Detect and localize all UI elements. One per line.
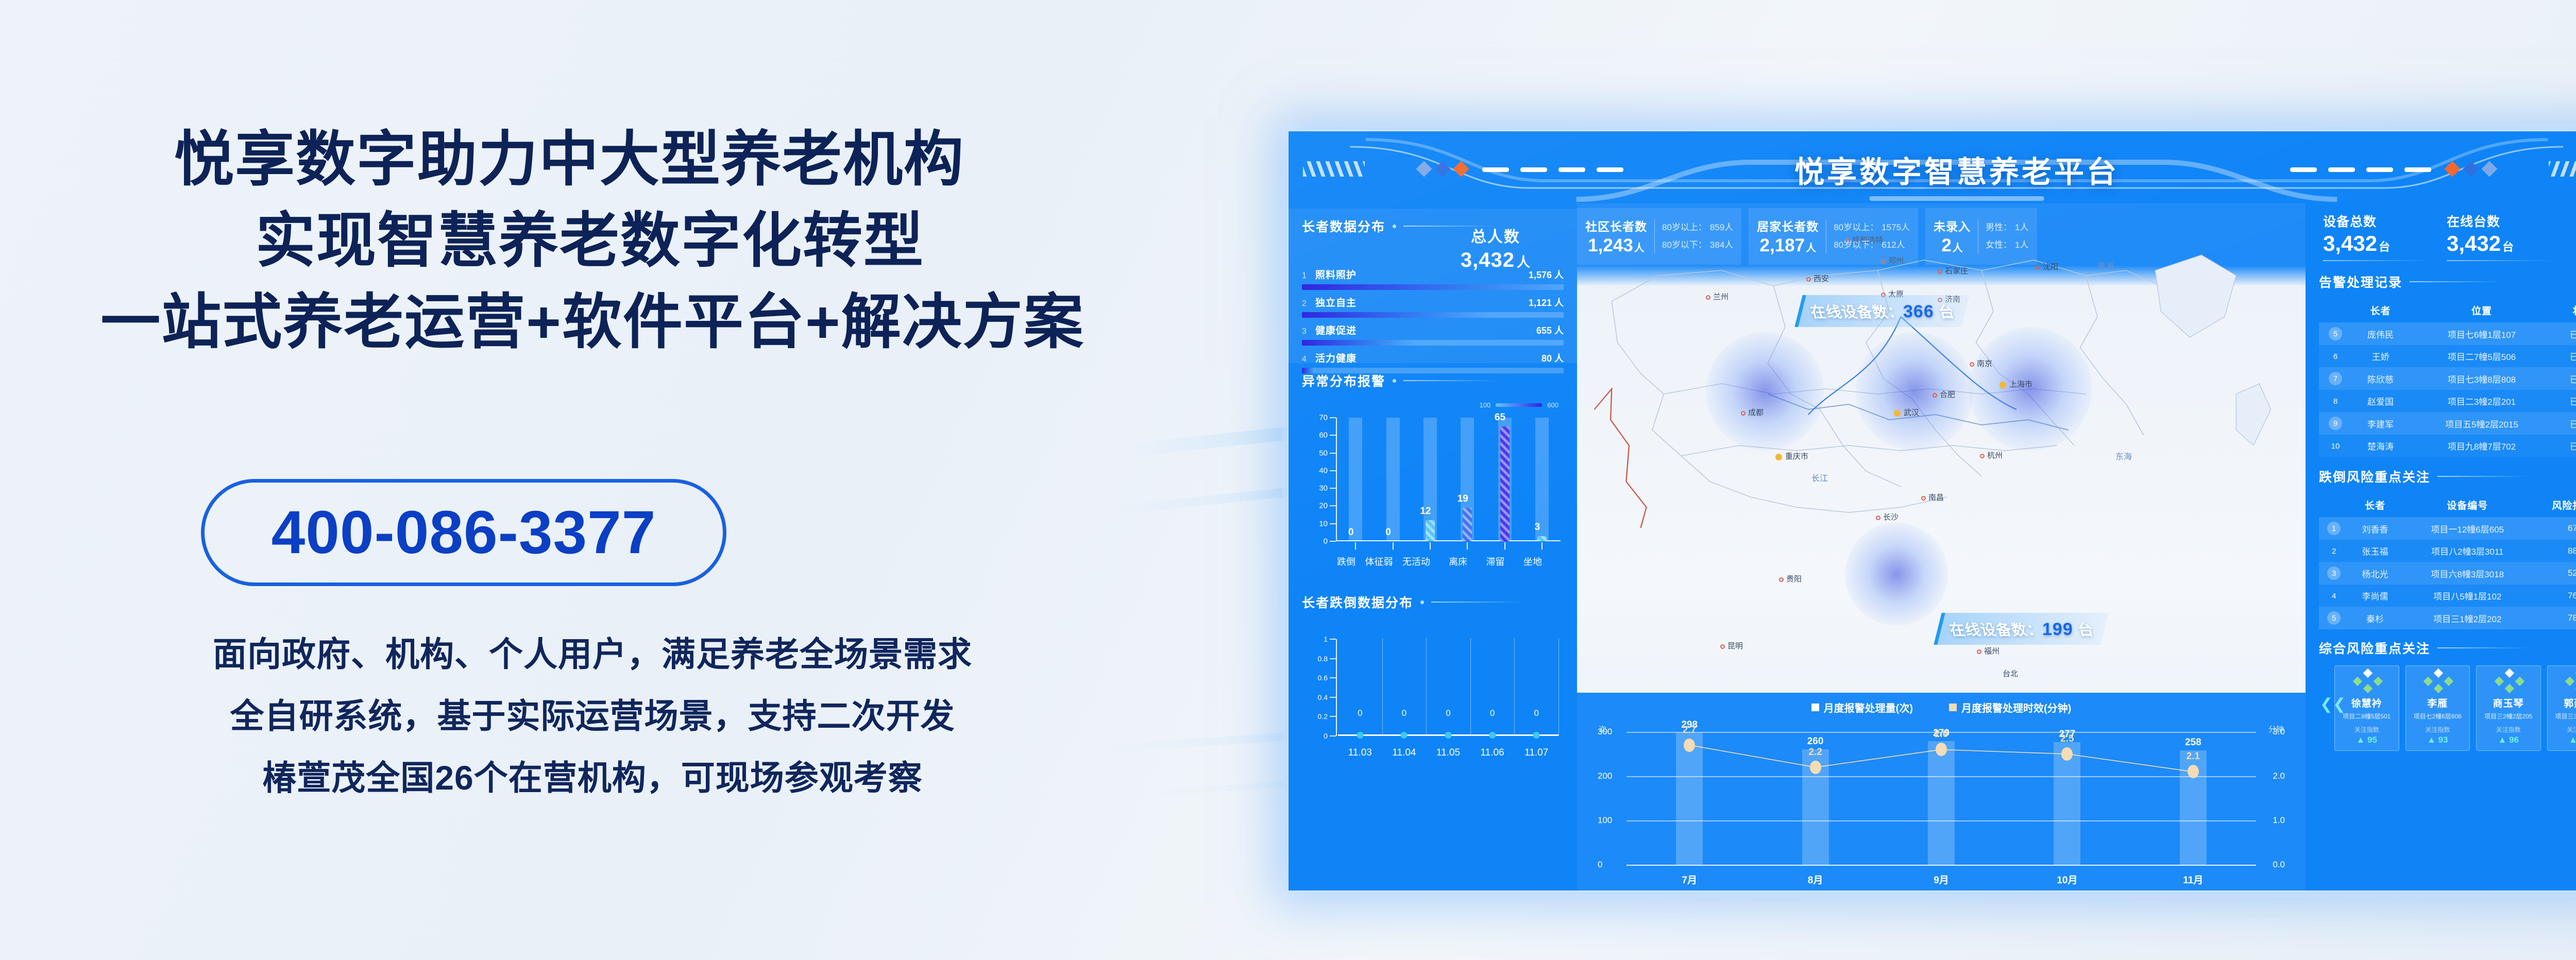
map-city-label: 武汉 <box>1894 407 1919 418</box>
alarm-log-row[interactable]: 10楚海涛项目九8幢7层702已处理 <box>2319 435 2576 457</box>
panel-alarm-log: 告警处理记录 长者位置状态 5庞伟民项目七6幢1层107已处理6王娇项目二7幢5… <box>2306 261 2576 457</box>
map-city-label: 贵阳 <box>1779 573 1802 584</box>
table-cell: 项目八2幢3层3011 <box>2401 540 2534 562</box>
bar-category-label: 离床 <box>1449 555 1467 568</box>
map-city-label: 台北 <box>2003 668 2018 679</box>
risk-card-location: 项目三3幢5层506 <box>2551 712 2576 721</box>
row-index: 8 <box>2333 397 2337 406</box>
alarm-log-row[interactable]: 9李建军项目五5幢2层2015已处理 <box>2319 412 2576 435</box>
panel-fall-risk: 跌倒风险重点关注 长者设备编号风险指数 1刘香香项目一12幢6层605672张玉… <box>2306 457 2576 629</box>
title-rule <box>2410 281 2502 282</box>
map-halo <box>1855 332 1974 451</box>
y-axis-tick: 0 <box>1324 732 1328 740</box>
x-axis-tick-mark <box>1504 542 1505 550</box>
table-cell: 项目一12幢6层605 <box>2401 517 2534 540</box>
alarm-log-row[interactable]: 5庞伟民项目七6幢1层107已处理 <box>2319 322 2576 345</box>
grid-line <box>1382 638 1383 736</box>
panel-title-fall-distribution: 长者跌倒数据分布 <box>1302 593 1564 611</box>
divider <box>1978 219 1978 253</box>
table-cell: 76 <box>2534 585 2576 607</box>
y-axis-tick: 0.8 <box>1318 655 1328 663</box>
table-cell: 项目二3幢2层201 <box>2409 390 2554 412</box>
title-rule <box>2437 647 2530 648</box>
y-axis-tick-mark <box>1330 697 1336 698</box>
table-cell: 已处理 <box>2554 367 2576 390</box>
table-cell: 庞伟民 <box>2352 322 2409 345</box>
bar-value: 65 <box>1495 412 1505 423</box>
device-stat-label: 在线台数 <box>2447 212 2555 230</box>
map-city-label: 福州 <box>1977 645 1999 656</box>
monthly-line-point <box>2061 747 2073 761</box>
risk-card-location: 项目七2幢6层606 <box>2409 712 2467 721</box>
risk-focus-card[interactable]: 商玉琴项目三2幢2层205关注指数▲ 96 <box>2476 665 2541 751</box>
map-city-label: 上海市 <box>1999 379 2032 389</box>
row-index: 3 <box>2327 567 2341 580</box>
table-cell: 刘香香 <box>2349 517 2401 540</box>
fall-plot-area: 011.03011.04011.05011.06011.07 <box>1338 638 1558 736</box>
left-axis-tick: 200 <box>1598 771 1612 781</box>
table-cell: 88 <box>2534 540 2576 562</box>
risk-card-index-value: ▲ 89 <box>2551 735 2576 745</box>
column-header: 长者 <box>2349 493 2401 517</box>
chevron-left-icon[interactable]: ❮❮ <box>2320 695 2346 713</box>
y-axis-tick: 10 <box>1319 519 1328 528</box>
device-stat-label: 设备总数 <box>2323 212 2431 230</box>
table-cell: 秦杉 <box>2349 607 2401 629</box>
y-axis-tick-mark <box>1330 505 1336 506</box>
table-cell: 已处理 <box>2554 435 2576 457</box>
map-city-label: 兰州 <box>1706 291 1728 302</box>
table-cell: 楚海涛 <box>2352 435 2409 457</box>
left-axis-tick: 100 <box>1598 815 1612 826</box>
elder-rank-row: 3健康促进655 人 <box>1302 323 1564 346</box>
line-data-point <box>1357 732 1363 739</box>
risk-card-name: 商玉琴 <box>2480 696 2537 710</box>
risk-card-name: 李雁 <box>2409 696 2467 710</box>
alarm-log-table: 长者位置状态 5庞伟民项目七6幢1层107已处理6王娇项目二7幢5层506已处理… <box>2319 298 2576 457</box>
bullet-dot-icon <box>1393 379 1396 383</box>
divider <box>1826 219 1826 253</box>
device-stat-unit: 台 <box>2502 241 2514 253</box>
risk-card-index-value: ▲ 96 <box>2480 735 2537 745</box>
monthly-line-value: 2.5 <box>2060 733 2074 745</box>
y-axis-tick-mark <box>1330 658 1336 659</box>
y-axis-tick: 40 <box>1319 466 1328 475</box>
risk-card-index-label: 关注指数 <box>2409 725 2467 734</box>
row-index: 6 <box>2333 352 2337 361</box>
elder-total-value: 3,432 <box>1461 249 1515 271</box>
row-index: 5 <box>2329 327 2342 340</box>
stat-breakdown: 80岁以上：1575人80岁以下：612人 <box>1834 219 1910 254</box>
x-axis-tick-mark <box>1430 542 1431 550</box>
abnormal-y-axis: 706050403020100 <box>1305 418 1336 541</box>
monthly-x-label: 11月 <box>2183 872 2203 886</box>
phone-cta-button[interactable]: 400-086-3377 <box>201 479 726 586</box>
device-stat-value: 3,432台 <box>2447 231 2555 256</box>
bar-value: 19 <box>1458 493 1468 505</box>
x-axis-label: 11.06 <box>1481 747 1504 759</box>
comprehensive-risk-card-list: ❮❮ 徐慧衿项目二8幢5层501关注指数▲ 95李雁项目七2幢6层606关注指数… <box>2319 665 2576 751</box>
device-stat-card: 设备总数3,432台 <box>2323 212 2431 261</box>
row-index: 2 <box>2332 547 2336 556</box>
table-cell: 78 <box>2534 607 2576 629</box>
stat-label: 未录入 <box>1934 217 1971 234</box>
x-axis-tick-mark <box>1393 542 1394 550</box>
risk-card-index-value: ▲ 93 <box>2409 735 2467 745</box>
panel-title-fall-risk: 跌倒风险重点关注 <box>2319 467 2576 486</box>
rank-label: 健康促进 <box>1315 323 1357 337</box>
bar-value: 0 <box>1348 527 1354 538</box>
map-city-label: 西安 <box>1806 273 1829 284</box>
table-cell: 项目二7幢5层506 <box>2409 345 2554 367</box>
bar-fill <box>1500 426 1510 541</box>
row-index: 1 <box>2327 522 2341 535</box>
dashboard-monitor: 悦享数字智慧养老平台 长者数据分布 总人数 3,432人 1照料照护1,576 … <box>1287 130 2576 892</box>
stat-card: 未录入2人男性：1人女性：1人 <box>1925 208 2037 265</box>
dashboard-center-column: 郑州 西安 南京 合肥 上海市 成都 武汉 重庆市 杭州 南昌 长沙 贵阳 福州… <box>1577 203 2306 892</box>
monthly-bar-value: 258 <box>2185 737 2201 748</box>
table-cell: 张玉福 <box>2349 540 2401 562</box>
rank-value: 1,121 人 <box>1529 296 1564 309</box>
x-axis-tick-mark <box>1355 542 1356 550</box>
stat-value: 2人 <box>1934 235 1971 256</box>
rank-bar-track <box>1302 284 1564 290</box>
rank-bar-fill <box>1302 284 1564 290</box>
monthly-plot-area: 3003.02002.01001.000.02982.77月2602.28月27… <box>1626 732 2256 865</box>
grid-line <box>1514 638 1515 736</box>
stat-sub-key: 80岁以下： <box>1662 240 1707 250</box>
legend-item-response: 月度报警处理时效(分钟) <box>1949 700 2071 715</box>
bullet-item-2: 全自研系统，基于实际运营场景，支持二次开发 <box>0 685 1185 747</box>
rank-index: 1 <box>1302 271 1315 281</box>
x-axis-label: 11.03 <box>1348 747 1372 759</box>
monthly-bar <box>1676 733 1703 865</box>
map-city-label: 合肥 <box>1933 389 1955 400</box>
elder-rank-row: 2独立自主1,121 人 <box>1302 295 1564 318</box>
rank-bar-track <box>1302 312 1564 318</box>
column-header: 位置 <box>2409 298 2554 322</box>
rank-index: 2 <box>1302 299 1315 308</box>
column-header <box>2319 298 2352 322</box>
y-axis-tick-mark <box>1330 541 1336 542</box>
risk-card-index-label: 关注指数 <box>2480 725 2537 734</box>
panel-title-abnormal-alerts: 异常分布报警 <box>1302 371 1564 390</box>
panel-title-comprehensive-risk: 综合风险重点关注 <box>2319 639 2576 657</box>
stat-sub-key: 80岁以上： <box>1834 222 1878 232</box>
stat-sub-value: 612人 <box>1882 240 1905 250</box>
stat-card: 社区长者数1,243人80岁以上：859人80岁以下：384人 <box>1577 208 1741 265</box>
monthly-line-point <box>2188 765 2199 778</box>
risk-focus-card[interactable]: 李雁项目七2幢6层606关注指数▲ 93 <box>2405 665 2470 751</box>
stat-label: 社区长者数 <box>1585 217 1647 234</box>
monthly-x-label: 7月 <box>1682 872 1697 886</box>
bar-track <box>1349 418 1362 541</box>
column-header: 风险指数 <box>2534 493 2576 517</box>
x-axis-label: 11.05 <box>1436 747 1460 759</box>
bullet-list: 面向政府、机构、个人用户，满足养老全场景需求 全自研系统，基于实际运营场景，支持… <box>0 623 1185 809</box>
diamond-cluster-icon <box>2480 672 2537 693</box>
rank-index: 3 <box>1302 327 1315 336</box>
bar-value: 3 <box>1535 522 1540 533</box>
alarm-log-row[interactable]: 6王娇项目二7幢5层506已处理 <box>2319 345 2576 367</box>
map-callout-devices-1: 在线设备数：366 台 <box>1794 295 1969 327</box>
table-cell: 已处理 <box>2554 322 2576 345</box>
bar-category-label: 无活动 <box>1402 555 1430 568</box>
y-axis-tick: 0.4 <box>1318 693 1328 701</box>
fall-risk-row[interactable]: 2张玉福项目八2幢3层301188 <box>2319 540 2576 562</box>
rank-bar-fill <box>1302 312 1488 318</box>
map-city-label: 长沙 <box>1876 511 1899 522</box>
column-header <box>2319 493 2349 517</box>
y-axis-tick-mark <box>1330 417 1336 418</box>
bar-fill <box>1463 508 1472 541</box>
fall-risk-row[interactable]: 3杨北光项目六8幢3层301852 <box>2319 562 2576 585</box>
table-cell: 项目七6幢1层107 <box>2409 322 2554 345</box>
dashboard-left-column: 长者数据分布 总人数 3,432人 1照料照护1,576 人2独立自主1,121… <box>1289 203 1577 892</box>
stat-breakdown: 80岁以上：859人80岁以下：384人 <box>1662 219 1733 254</box>
stat-breakdown: 男性：1人女性：1人 <box>1986 219 2028 254</box>
row-index: 7 <box>2329 372 2342 385</box>
legend-item-volume: 月度报警处理量(次) <box>1811 700 1913 715</box>
line-data-point <box>1445 732 1452 739</box>
table-cell: 赵爱国 <box>2352 390 2409 412</box>
x-axis-label: 11.04 <box>1392 747 1416 759</box>
line-data-point <box>1401 732 1408 739</box>
column-header: 状态 <box>2554 298 2576 322</box>
right-axis-tick: 3.0 <box>2273 727 2285 737</box>
y-axis-tick: 0 <box>1324 537 1328 546</box>
monthly-alarm-chart: 月度报警处理量(次) 月度报警处理时效(分钟) 次 分钟 3003.02002.… <box>1577 693 2306 892</box>
map-sea-label: 东海 <box>2115 450 2132 462</box>
map-river-label: 长江 <box>1811 471 1828 484</box>
monthly-line-value: 2.1 <box>2187 751 2200 762</box>
table-cell: 67 <box>2534 517 2576 540</box>
table-cell: 陈欣慈 <box>2352 367 2409 390</box>
row-index: 5 <box>2327 611 2341 625</box>
bar-category-label: 体征弱 <box>1365 555 1393 568</box>
map-callout-devices-2: 在线设备数：199 台 <box>1934 613 2108 645</box>
row-index: 4 <box>2332 592 2336 601</box>
right-axis-tick: 1.0 <box>2273 815 2285 826</box>
line-data-value: 0 <box>1446 708 1450 718</box>
title-rule <box>1403 380 1496 381</box>
bar-category-label: 滞留 <box>1486 555 1505 568</box>
headline-line-3: 一站式养老运营+软件平台+解决方案 <box>0 281 1185 363</box>
bar-category-label: 坐地 <box>1523 555 1542 568</box>
grid-line <box>1426 638 1427 736</box>
left-axis-tick: 0 <box>1598 860 1602 870</box>
stat-sub-key: 80岁以上： <box>1662 222 1707 232</box>
y-axis-tick-mark <box>1330 435 1336 436</box>
x-axis-label: 11.07 <box>1524 747 1548 759</box>
column-header: 长者 <box>2352 298 2409 322</box>
fall-risk-row[interactable]: 1刘香香项目一12幢6层60567 <box>2319 517 2576 540</box>
dashboard-title: 悦享数字智慧养老平台 <box>1289 148 2576 191</box>
rank-value: 1,576 人 <box>1529 268 1564 281</box>
map-city-label: 杭州 <box>1980 450 2003 460</box>
table-header-row: 长者位置状态 <box>2319 298 2576 322</box>
legend-gradient-bar <box>1496 403 1542 407</box>
table-cell: 已处理 <box>2554 345 2576 367</box>
device-stats-row: 设备总数3,432台在线台数3,432台 <box>2306 203 2576 261</box>
table-cell: 杨北光 <box>2349 562 2401 585</box>
right-axis-tick: 0.0 <box>2273 860 2285 870</box>
line-data-value: 0 <box>1402 708 1406 718</box>
bullet-item-3: 椿萱茂全国26个在营机构，可现场参观考察 <box>0 747 1185 809</box>
alarm-log-row[interactable]: 7陈欣慈项目七3幢8层808已处理 <box>2319 367 2576 390</box>
device-stat-card: 在线台数3,432台 <box>2447 212 2555 261</box>
map-city-label: 南昌 <box>1921 492 1944 503</box>
monthly-x-label: 8月 <box>1808 872 1823 886</box>
dashboard-header: 悦享数字智慧养老平台 <box>1289 131 2576 203</box>
top-stats-row: 社区长者数1,243人80岁以上：859人80岁以下：384人居家长者数2,18… <box>1577 203 2306 269</box>
y-axis-tick: 30 <box>1319 484 1328 493</box>
table-cell: 李尚儒 <box>2349 585 2401 607</box>
map-city-label: 昆明 <box>1720 640 1743 651</box>
row-index: 10 <box>2331 442 2340 451</box>
alarm-log-row[interactable]: 8赵爱国项目二3幢2层201已处理 <box>2319 390 2576 412</box>
left-axis-tick: 300 <box>1598 727 1612 737</box>
risk-card-name: 徐慧衿 <box>2338 696 2396 710</box>
risk-focus-card[interactable]: 郭建国项目三3幢5层506关注指数▲ 89 <box>2547 665 2576 751</box>
stat-unit: 人 <box>1806 243 1816 254</box>
dashboard-right-column: 设备总数3,432台在线台数3,432台 告警处理记录 长者位置状态 5庞伟民项… <box>2306 203 2576 892</box>
map-city-label: 重庆市 <box>1775 451 1808 461</box>
headline-line-2: 实现智慧养老数字化转型 <box>0 200 1185 281</box>
title-rule <box>1431 602 1524 603</box>
device-stat-value: 3,432台 <box>2323 231 2431 256</box>
map-halo <box>1706 332 1824 451</box>
grid-line <box>1626 865 2256 866</box>
y-axis-tick-mark <box>1330 523 1336 524</box>
risk-card-location: 项目三2幢2层205 <box>2480 712 2537 721</box>
monthly-line-point <box>1684 739 1695 752</box>
divider <box>1654 219 1655 253</box>
y-axis-tick-mark <box>1330 677 1336 678</box>
rank-bar-track <box>1302 340 1564 346</box>
table-cell: 项目五5幢2层2015 <box>2409 412 2554 435</box>
monthly-line-point <box>1810 761 1821 774</box>
risk-card-index-value: ▲ 95 <box>2338 735 2396 745</box>
stat-sub-value: 384人 <box>1710 240 1733 250</box>
abnormal-chart-legend: 100 600 <box>1480 401 1558 409</box>
stat-sub-key: 男性： <box>1986 222 2012 232</box>
marketing-column: 悦享数字助力中大型养老机构 实现智慧养老数字化转型 一站式养老运营+软件平台+解… <box>0 0 1226 960</box>
table-cell: 项目九8幢7层702 <box>2409 435 2554 457</box>
stat-sub-value: 1人 <box>2015 240 2028 250</box>
risk-card-location: 项目二8幢5层501 <box>2338 712 2396 721</box>
stat-sub-key: 80岁以下： <box>1834 240 1878 250</box>
line-data-point <box>1533 732 1540 739</box>
y-axis-tick: 70 <box>1319 414 1328 422</box>
elder-total-label: 总人数 <box>1461 224 1531 247</box>
stat-card: 居家长者数2,187人80岁以上：1575人80岁以下：612人 <box>1749 208 1918 265</box>
line-data-value: 0 <box>1534 708 1538 718</box>
legend-max-value: 600 <box>1547 401 1558 409</box>
monthly-line-value: 2.7 <box>1683 725 1696 736</box>
headline-line-1: 悦享数字助力中大型养老机构 <box>0 118 1185 200</box>
y-axis-tick: 1 <box>1324 635 1328 643</box>
bullet-dot-icon <box>1393 225 1396 228</box>
bar-category-label: 跌倒 <box>1337 555 1355 568</box>
stat-sub-value: 859人 <box>1710 222 1733 232</box>
table-cell: 已处理 <box>2554 412 2576 435</box>
column-header: 设备编号 <box>2401 493 2534 517</box>
risk-card-index-label: 关注指数 <box>2338 725 2396 734</box>
panel-elder-distribution: 长者数据分布 总人数 3,432人 1照料照护1,576 人2独立自主1,121… <box>1289 209 1577 363</box>
stat-value: 2,187人 <box>1757 235 1819 256</box>
table-cell: 项目六8幢3层3018 <box>2401 562 2534 585</box>
row-index: 9 <box>2329 417 2342 430</box>
risk-card-index-label: 关注指数 <box>2551 725 2576 734</box>
y-axis-tick-mark <box>1330 639 1336 640</box>
fall-risk-table: 长者设备编号风险指数 1刘香香项目一12幢6层605672张玉福项目八2幢3层3… <box>2319 493 2576 629</box>
rank-bar-fill <box>1302 340 1412 346</box>
y-axis-tick-mark <box>1330 470 1336 471</box>
monthly-x-label: 9月 <box>1934 872 1949 886</box>
stat-sub-value: 1575人 <box>1882 222 1910 232</box>
bar-value: 0 <box>1385 527 1391 538</box>
table-cell: 52 <box>2534 562 2576 585</box>
risk-card-name: 郭建国 <box>2551 696 2576 710</box>
fall-risk-row[interactable]: 4李尚儒项目八5幢1层10276 <box>2319 585 2576 607</box>
rank-label: 独立自主 <box>1315 295 1357 309</box>
abnormal-plot-area: 0跌倒0体征弱12无活动19离床65滞留3坐地 <box>1337 418 1561 541</box>
phone-number: 400-086-3377 <box>272 498 656 568</box>
elder-total: 总人数 3,432人 <box>1461 224 1531 272</box>
table-cell: 已处理 <box>2554 390 2576 412</box>
monthly-line-point <box>1936 743 1947 756</box>
grid-line <box>1470 638 1471 736</box>
rank-label: 照料照护 <box>1315 267 1357 281</box>
y-axis-tick: 20 <box>1319 502 1328 510</box>
line-data-value: 0 <box>1490 708 1495 718</box>
abnormal-bar-chart: 100 600 706050403020100 0跌倒0体征弱12无活动19离床… <box>1305 410 1564 565</box>
diamond-cluster-icon <box>2338 672 2396 693</box>
monthly-bar-value: 260 <box>1807 736 1824 747</box>
y-axis-tick-mark <box>1330 488 1336 489</box>
grid-line <box>1558 638 1559 736</box>
device-stat-unit: 台 <box>2379 241 2390 253</box>
y-axis-tick: 50 <box>1319 449 1328 457</box>
bullet-dot-icon <box>1420 601 1424 604</box>
monthly-line-value: 2.2 <box>1808 747 1822 758</box>
fall-line-chart: 10.80.60.40.20 011.03011.04011.05011.060… <box>1305 632 1564 761</box>
map-halo <box>1845 523 1948 626</box>
rank-label: 活力健康 <box>1315 351 1357 365</box>
line-data-point <box>1489 732 1496 739</box>
y-axis-tick-mark <box>1330 735 1336 736</box>
stat-sub-value: 1人 <box>2015 222 2028 232</box>
stat-sub-key: 女性： <box>1986 240 2012 250</box>
rank-value: 655 人 <box>1536 323 1564 337</box>
stat-unit: 人 <box>1953 243 1963 254</box>
fall-risk-row[interactable]: 5秦杉项目三1幢2层20278 <box>2319 607 2576 629</box>
y-axis-tick-mark <box>1330 453 1336 454</box>
panel-title-alarm-log: 告警处理记录 <box>2319 272 2576 291</box>
headline-block: 悦享数字助力中大型养老机构 实现智慧养老数字化转型 一站式养老运营+软件平台+解… <box>0 118 1185 363</box>
y-axis-tick-mark <box>1330 716 1336 717</box>
y-axis-tick: 0.6 <box>1318 674 1328 682</box>
right-axis-tick: 2.0 <box>2273 771 2285 781</box>
elder-rank-list: 1照料照护1,576 人2独立自主1,121 人3健康促进655 人4活力健康8… <box>1302 267 1564 373</box>
stat-unit: 人 <box>1634 243 1645 254</box>
map-city-label: 成都 <box>1741 407 1764 418</box>
x-axis-tick-mark <box>1541 542 1543 550</box>
stat-value: 1,243人 <box>1585 235 1647 256</box>
fall-y-axis: 10.80.60.40.20 <box>1305 639 1336 736</box>
bar-fill <box>1537 536 1547 541</box>
